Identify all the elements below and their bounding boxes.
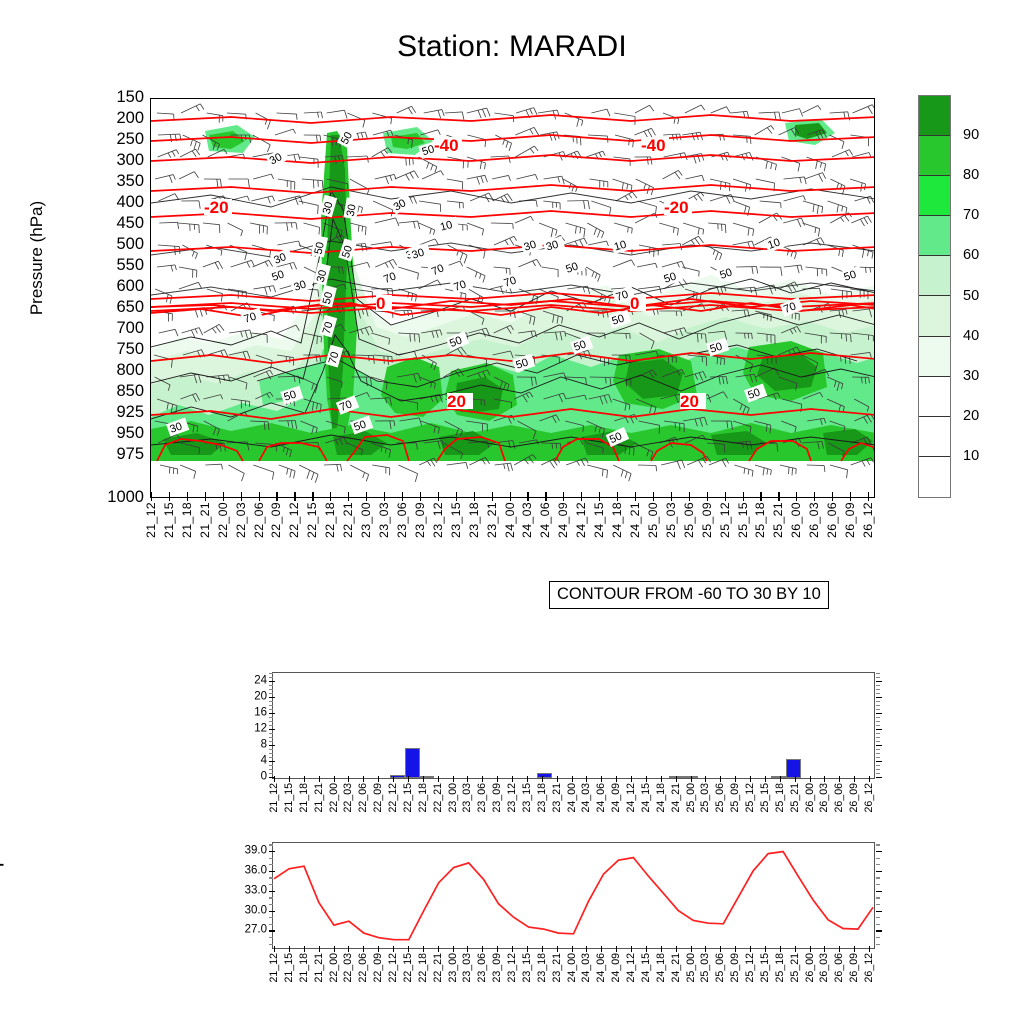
rain-tickmark-right (876, 681, 882, 682)
temp-x-tick-label: 26_12 (863, 953, 875, 982)
colorbar-cell (919, 176, 950, 216)
colorbar-label: 90 (963, 127, 979, 143)
temp-x-tickmark (810, 946, 811, 952)
temp-x-tick-label: 23_21 (551, 953, 563, 982)
rain-minor-tickmark (269, 685, 273, 686)
rain-minor-tickmark (269, 749, 273, 750)
colorbar-cell (919, 296, 950, 336)
rain-minor-tickmark (269, 677, 273, 678)
main-x-tick-label: 24_12 (574, 502, 588, 538)
rain-x-tickmark (810, 776, 811, 782)
temp-x-tickmark (601, 946, 602, 952)
temp-x-tick-label: 25_06 (714, 953, 726, 982)
main-x-tick-label: 26_12 (861, 502, 875, 538)
temp-minor-tickmark-right (876, 904, 880, 905)
rain-x-tick-label: 24_00 (566, 783, 578, 812)
temp-x-tick-label: 22_00 (328, 953, 340, 982)
rain-x-tick-label: 25_09 (729, 783, 741, 812)
rain-x-tickmark (289, 776, 290, 782)
temp-x-tickmark (527, 946, 528, 952)
main-x-tickmark (563, 492, 564, 501)
rain-x-tickmark (482, 776, 483, 782)
temp-x-tick-label: 25_09 (729, 953, 741, 982)
rain-x-tick-label: 25_15 (759, 783, 771, 812)
rain-tickmark (269, 777, 275, 778)
svg-text:20: 20 (447, 392, 466, 411)
temp-minor-tickmark (269, 877, 273, 878)
colorbar-cell (919, 256, 950, 296)
temp-series-line (274, 852, 873, 940)
rain-x-tick-label: 23_06 (476, 783, 488, 812)
colorbar-cell (919, 377, 950, 417)
temp-x-tick-label: 24_12 (625, 953, 637, 982)
rain-bar[interactable] (405, 748, 420, 778)
rain-tickmark (269, 681, 275, 682)
svg-text:50: 50 (313, 241, 327, 255)
rain-x-tickmark (527, 776, 528, 782)
main-x-tick-label: 24_03 (520, 502, 534, 538)
temp-minor-tickmark (269, 924, 273, 925)
temp-y-axis-label: Temp at 2m (0, 737, 5, 967)
temp-x-tickmark (691, 946, 692, 952)
temp-minor-tickmark (269, 944, 273, 945)
temp-x-tickmark (676, 946, 677, 952)
main-x-tick-label: 21_21 (198, 502, 212, 538)
temp-x-tick-label: 24_18 (655, 953, 667, 982)
rain-minor-tickmark (269, 741, 273, 742)
main-x-tickmark (276, 492, 277, 501)
temp-x-tickmark (363, 946, 364, 952)
svg-text:0: 0 (376, 294, 385, 313)
temp-x-tickmark (319, 946, 320, 952)
main-y-tick: 600 (98, 278, 144, 295)
rain-x-tick-label: 23_15 (521, 783, 533, 812)
rain-minor-tickmark-right (876, 717, 880, 718)
rain-minor-tickmark (269, 769, 273, 770)
temp-minor-tickmark (269, 897, 273, 898)
rain-bar[interactable] (771, 776, 786, 778)
main-x-tick-label: 23_15 (449, 502, 463, 538)
rain-minor-tickmark (269, 725, 273, 726)
temp-x-tickmark (750, 946, 751, 952)
rain-bar-chart[interactable] (272, 672, 875, 779)
temp-x-tick-label: 23_09 (491, 953, 503, 982)
main-x-tickmark (832, 492, 833, 501)
main-x-tickmark (868, 492, 869, 501)
rain-x-tickmark (378, 776, 379, 782)
rain-x-tick-label: 25_12 (744, 783, 756, 812)
temp-y-tick: 39.0 (219, 845, 267, 857)
temp-x-tickmark (616, 946, 617, 952)
temp-tickmark (269, 891, 275, 892)
rain-x-tick-label: 23_00 (447, 783, 459, 812)
main-x-tick-label: 24_18 (610, 502, 624, 538)
colorbar-cell (919, 216, 950, 256)
main-x-tick-label: 21_15 (162, 502, 176, 538)
temp-x-tick-label: 22_03 (342, 953, 354, 982)
temp-x-tickmark (824, 946, 825, 952)
main-x-tick-label: 26_03 (807, 502, 821, 538)
temp-x-tickmark (780, 946, 781, 952)
rain-minor-tickmark-right (876, 749, 880, 750)
temp-minor-tickmark (269, 917, 273, 918)
rain-minor-tickmark-right (876, 737, 880, 738)
rain-minor-tickmark-right (876, 721, 880, 722)
main-x-tickmark (653, 492, 654, 501)
rain-x-tick-label: 21_21 (313, 783, 325, 812)
colorbar-label: 20 (963, 408, 979, 424)
rain-x-axis-labels: 21_1221_1521_1821_2122_0022_0322_0622_09… (272, 783, 875, 843)
temp-y-axis-ticks: 27.030.033.036.039.0 (217, 0, 267, 1024)
rain-x-tickmark (735, 776, 736, 782)
rain-minor-tickmark (269, 733, 273, 734)
main-x-tickmark (294, 492, 295, 501)
rain-minor-tickmark-right (876, 689, 880, 690)
temp-x-tick-label: 24_09 (610, 953, 622, 982)
main-x-tickmark (689, 492, 690, 501)
rain-x-tick-label: 24_21 (670, 783, 682, 812)
rain-x-tickmark (423, 776, 424, 782)
temp-x-tickmark (378, 946, 379, 952)
temp-x-tickmark (423, 946, 424, 952)
temp-x-tick-label: 25_21 (789, 953, 801, 982)
temp-x-tick-label: 23_15 (521, 953, 533, 982)
svg-text:30: 30 (345, 203, 359, 217)
rain-x-tickmark (557, 776, 558, 782)
temp-x-tick-label: 22_09 (372, 953, 384, 982)
temp-minor-tickmark-right (876, 884, 880, 885)
main-x-tick-label: 25_12 (718, 502, 732, 538)
main-x-tickmark (330, 492, 331, 501)
rain-x-tickmark (824, 776, 825, 782)
rain-minor-tickmark-right (876, 673, 880, 674)
temp-x-tick-label: 24_06 (595, 953, 607, 982)
main-y-tick: 950 (98, 425, 144, 442)
temp-x-tickmark (393, 946, 394, 952)
main-y-tick: 700 (98, 320, 144, 337)
rain-x-tick-label: 22_15 (402, 783, 414, 812)
temp-minor-tickmark (269, 864, 273, 865)
rain-x-tick-label: 26_06 (833, 783, 845, 812)
rain-minor-tickmark-right (876, 693, 880, 694)
main-y-tick: 925 (98, 404, 144, 421)
temp-x-tick-label: 26_06 (833, 953, 845, 982)
rain-x-tickmark (616, 776, 617, 782)
rain-x-tickmark (304, 776, 305, 782)
main-x-tick-label: 25_06 (682, 502, 696, 538)
temp-x-tickmark (482, 946, 483, 952)
main-x-tickmark (312, 492, 313, 501)
temp-x-tick-label: 26_00 (804, 953, 816, 982)
main-x-tickmark (474, 492, 475, 501)
temp-x-tickmark (438, 946, 439, 952)
temp-x-tickmark (720, 946, 721, 952)
rain-x-tickmark (750, 776, 751, 782)
main-y-tick: 850 (98, 383, 144, 400)
rain-x-tickmark (839, 776, 840, 782)
temp-x-tick-label: 22_21 (432, 953, 444, 982)
temp-x-tickmark (795, 946, 796, 952)
page-title: Station: MARADI (0, 30, 1024, 64)
main-x-tick-label: 24_06 (538, 502, 552, 538)
temp-x-tickmark (735, 946, 736, 952)
rain-x-tick-label: 23_03 (461, 783, 473, 812)
main-x-tick-label: 21_12 (144, 502, 158, 538)
main-x-tick-label: 25_21 (771, 502, 785, 538)
rain-tickmark-right (876, 777, 882, 778)
rain-x-tick-label: 21_18 (298, 783, 310, 812)
rain-x-tick-label: 22_18 (417, 783, 429, 812)
temp-minor-tickmark-right (876, 937, 880, 938)
main-y-tick: 450 (98, 215, 144, 232)
temp-minor-tickmark (269, 884, 273, 885)
rain-minor-tickmark-right (876, 753, 880, 754)
temp-x-tickmark (854, 946, 855, 952)
main-y-tick: 200 (98, 110, 144, 127)
temp-x-tickmark (705, 946, 706, 952)
main-x-tick-label: 25_09 (700, 502, 714, 538)
rain-minor-tickmark (269, 753, 273, 754)
main-x-tickmark (671, 492, 672, 501)
rain-minor-tickmark (269, 721, 273, 722)
temp-x-tickmark (497, 946, 498, 952)
rain-x-tickmark (348, 776, 349, 782)
temp-x-tick-label: 23_06 (476, 953, 488, 982)
main-x-tickmark (187, 492, 188, 501)
rain-tickmark (269, 713, 275, 714)
main-x-tick-label: 22_12 (287, 502, 301, 538)
rain-tickmark-right (876, 697, 882, 698)
temp-x-tickmark (572, 946, 573, 952)
rain-minor-tickmark (269, 709, 273, 710)
rain-minor-tickmark-right (876, 741, 880, 742)
temp-x-tickmark (453, 946, 454, 952)
temp-x-tickmark (586, 946, 587, 952)
rain-tickmark-right (876, 745, 882, 746)
main-x-tickmark (581, 492, 582, 501)
temp-x-tick-label: 24_15 (640, 953, 652, 982)
temp-x-tick-label: 23_00 (447, 953, 459, 982)
rain-x-tick-label: 22_03 (342, 783, 354, 812)
rain-x-tickmark (661, 776, 662, 782)
svg-text:-40: -40 (641, 136, 666, 155)
temp-minor-tickmark-right (876, 864, 880, 865)
temp-x-tick-label: 26_09 (848, 953, 860, 982)
temp-line-chart[interactable] (272, 842, 875, 949)
temp-y-tick: 30.0 (219, 905, 267, 917)
temp-x-tickmark (348, 946, 349, 952)
rain-x-tick-label: 26_09 (848, 783, 860, 812)
rain-x-tickmark (393, 776, 394, 782)
main-x-tick-label: 26_06 (825, 502, 839, 538)
main-x-tickmark (617, 492, 618, 501)
temp-x-tickmark (304, 946, 305, 952)
main-x-tick-label: 26_09 (843, 502, 857, 538)
main-x-tickmark (743, 492, 744, 501)
temp-x-tickmark (869, 946, 870, 952)
colorbar-label: 60 (963, 247, 979, 263)
rain-x-tickmark (497, 776, 498, 782)
rain-minor-tickmark-right (876, 701, 880, 702)
temp-x-tickmark (408, 946, 409, 952)
main-x-tickmark (438, 492, 439, 501)
rain-tickmark (269, 697, 275, 698)
main-y-tick: 400 (98, 194, 144, 211)
rain-x-tickmark (408, 776, 409, 782)
temp-minor-tickmark-right (876, 877, 880, 878)
main-x-tickmark (850, 492, 851, 501)
main-x-tickmark (456, 492, 457, 501)
temp-x-tick-label: 26_03 (818, 953, 830, 982)
rain-x-tickmark (869, 776, 870, 782)
temp-x-tickmark (839, 946, 840, 952)
temp-x-tickmark (467, 946, 468, 952)
main-x-tickmark (778, 492, 779, 501)
rain-x-tickmark (453, 776, 454, 782)
rain-minor-tickmark-right (876, 725, 880, 726)
rain-minor-tickmark-right (876, 757, 880, 758)
temp-x-tickmark (631, 946, 632, 952)
colorbar-cell (919, 457, 950, 497)
rain-x-tickmark (542, 776, 543, 782)
temp-x-tick-label: 22_06 (357, 953, 369, 982)
main-x-tick-label: 23_21 (485, 502, 499, 538)
rain-x-tickmark (512, 776, 513, 782)
main-x-tickmark (599, 492, 600, 501)
rain-minor-tickmark (269, 689, 273, 690)
temp-x-tick-label: 25_12 (744, 953, 756, 982)
rain-x-tick-label: 24_03 (580, 783, 592, 812)
main-x-tick-label: 24_09 (556, 502, 570, 538)
rain-x-tick-label: 25_06 (714, 783, 726, 812)
colorbar-cell (919, 337, 950, 377)
rain-x-tick-label: 21_12 (268, 783, 280, 812)
rain-minor-tickmark-right (876, 685, 880, 686)
main-x-tick-label: 24_21 (628, 502, 642, 538)
temp-tickmark-right (876, 871, 882, 872)
main-y-tick: 750 (98, 341, 144, 358)
rain-x-tick-label: 25_18 (774, 783, 786, 812)
svg-text:20: 20 (680, 392, 699, 411)
rain-x-tickmark (780, 776, 781, 782)
rain-x-tick-label: 25_21 (789, 783, 801, 812)
rain-tickmark-right (876, 761, 882, 762)
main-y-tick: 150 (98, 89, 144, 106)
temp-y-tick: 36.0 (219, 865, 267, 877)
main-x-tickmark (527, 492, 528, 501)
rain-x-tick-label: 24_06 (595, 783, 607, 812)
rain-bar[interactable] (786, 759, 801, 778)
temp-minor-tickmark-right (876, 858, 880, 859)
temp-x-axis-labels: 21_1221_1521_1821_2122_0022_0322_0622_09… (272, 953, 875, 1013)
main-x-tick-label: 23_03 (377, 502, 391, 538)
temp-x-tickmark (661, 946, 662, 952)
main-x-tickmark (725, 492, 726, 501)
temp-minor-tickmark (269, 904, 273, 905)
rain-x-tick-label: 24_12 (625, 783, 637, 812)
rain-x-tick-label: 26_00 (804, 783, 816, 812)
rain-x-tick-label: 23_21 (551, 783, 563, 812)
rain-x-tick-label: 25_00 (685, 783, 697, 812)
rain-minor-tickmark-right (876, 677, 880, 678)
rain-bar[interactable] (537, 773, 552, 778)
temp-minor-tickmark-right (876, 924, 880, 925)
rain-x-tickmark (765, 776, 766, 782)
rain-x-tick-label: 26_03 (818, 783, 830, 812)
rain-x-tickmark (854, 776, 855, 782)
temp-x-tickmark (274, 946, 275, 952)
rain-x-tickmark (601, 776, 602, 782)
rain-minor-tickmark-right (876, 769, 880, 770)
rain-x-tickmark (631, 776, 632, 782)
rain-minor-tickmark-right (876, 773, 880, 774)
temp-x-tick-label: 23_18 (536, 953, 548, 982)
humidity-colorbar[interactable] (918, 95, 951, 498)
rain-x-tickmark (467, 776, 468, 782)
rain-minor-tickmark-right (876, 765, 880, 766)
rain-x-tickmark (334, 776, 335, 782)
rain-minor-tickmark-right (876, 705, 880, 706)
contour-range-note: CONTOUR FROM -60 TO 30 BY 10 (549, 581, 829, 609)
rain-minor-tickmark (269, 773, 273, 774)
temp-x-tick-label: 24_21 (670, 953, 682, 982)
svg-text:-20: -20 (664, 198, 689, 217)
rain-tickmark (269, 745, 275, 746)
main-y-tick: 550 (98, 257, 144, 274)
main-y-tick: 975 (98, 446, 144, 463)
temp-minor-tickmark (269, 844, 273, 845)
rain-x-tick-label: 22_21 (432, 783, 444, 812)
main-y-axis-ticks: 1502002503003504004505005506006507007508… (96, 0, 144, 1024)
main-x-tick-label: 23_00 (359, 502, 373, 538)
rain-minor-tickmark (269, 717, 273, 718)
temp-minor-tickmark-right (876, 944, 880, 945)
main-x-tick-label: 24_00 (503, 502, 517, 538)
rain-minor-tickmark (269, 765, 273, 766)
rain-x-tickmark (720, 776, 721, 782)
main-x-tickmark (151, 492, 152, 501)
temp-tickmark-right (876, 891, 882, 892)
main-x-tick-label: 25_18 (753, 502, 767, 538)
temp-x-tickmark (542, 946, 543, 952)
temp-minor-tickmark-right (876, 917, 880, 918)
rain-x-tick-label: 22_09 (372, 783, 384, 812)
temp-x-tick-label: 25_15 (759, 953, 771, 982)
colorbar-label: 80 (963, 167, 979, 183)
rain-x-tickmark (572, 776, 573, 782)
rain-tickmark-right (876, 729, 882, 730)
temp-x-tickmark (289, 946, 290, 952)
temp-svg (273, 843, 874, 948)
main-x-tick-label: 22_21 (341, 502, 355, 538)
main-x-tick-label: 23_12 (431, 502, 445, 538)
temp-tickmark (269, 851, 275, 852)
colorbar-label: 50 (963, 288, 979, 304)
main-x-tickmark (169, 492, 170, 501)
main-x-tickmark (492, 492, 493, 501)
colorbar-label: 40 (963, 328, 979, 344)
colorbar-label: 10 (963, 448, 979, 464)
temp-x-tick-label: 23_03 (461, 953, 473, 982)
main-y-axis-label: Pressure (hPa) (27, 148, 47, 368)
temp-x-tick-label: 24_03 (580, 953, 592, 982)
main-x-tick-label: 23_06 (395, 502, 409, 538)
rain-x-tickmark (363, 776, 364, 782)
main-x-tick-label: 21_18 (180, 502, 194, 538)
main-y-tick: 300 (98, 152, 144, 169)
main-x-tick-label: 23_18 (467, 502, 481, 538)
rain-x-tickmark (691, 776, 692, 782)
